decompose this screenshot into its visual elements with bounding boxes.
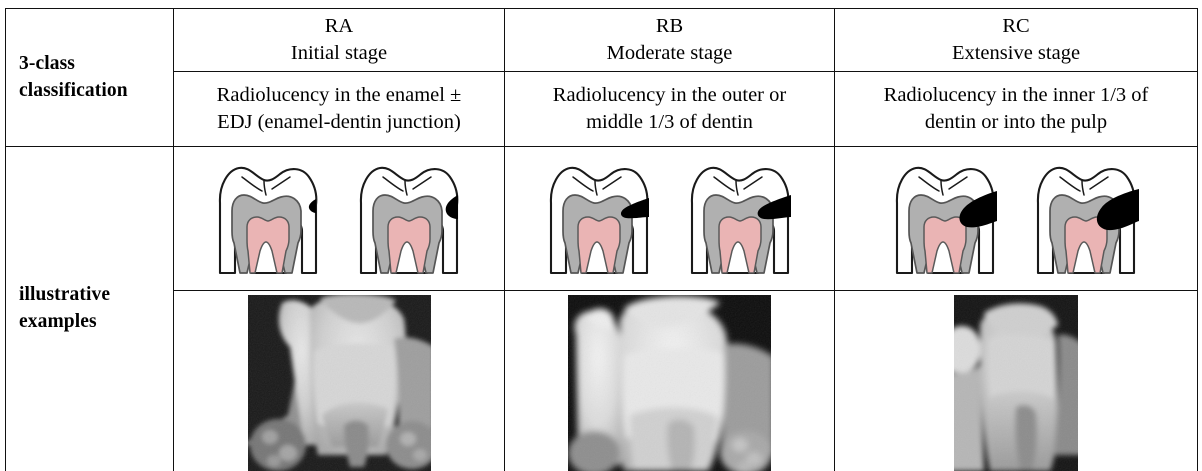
examples-label-line2: examples — [19, 311, 97, 332]
column-stage-ra: Initial stage — [180, 40, 498, 67]
description-rc-line2: dentin or into the pulp — [843, 109, 1189, 136]
description-ra-line1: Radiolucency in the enamel ± — [182, 82, 496, 109]
row-label-classification: 3-class classification — [6, 9, 174, 147]
header-cell-rb: RB Moderate stage — [505, 9, 835, 72]
tooth-diagram-icon-ra-1 — [206, 155, 331, 283]
description-rb-line2: middle 1/3 of dentin — [513, 109, 826, 136]
tooth-diagram-pair-rb — [505, 147, 834, 290]
row-label-illustrative-examples: illustrative examples — [6, 147, 174, 471]
tooth-diagram-icon-rc-2 — [1024, 155, 1149, 283]
diagram-cell-rb — [505, 147, 835, 291]
radiograph-cell-ra — [174, 291, 505, 471]
description-rc-line1: Radiolucency in the inner 1/3 of — [843, 82, 1189, 109]
diagram-cell-rc — [835, 147, 1198, 291]
table-row-header-codes: 3-class classification RA Initial stage … — [6, 9, 1198, 72]
radiograph-cell-rb — [505, 291, 835, 471]
description-ra-line2: EDJ (enamel-dentin junction) — [182, 109, 496, 136]
header-cell-rc: RC Extensive stage — [835, 9, 1198, 72]
radiograph-image-rb — [568, 295, 771, 471]
description-rb-line1: Radiolucency in the outer or — [513, 82, 826, 109]
tooth-diagram-pair-ra — [174, 147, 504, 290]
tooth-diagram-pair-rc — [835, 147, 1197, 290]
tooth-diagram-icon-rb-1 — [537, 155, 662, 283]
diagram-cell-ra — [174, 147, 505, 291]
column-stage-rc: Extensive stage — [841, 40, 1191, 67]
figure-root: 3-class classification RA Initial stage … — [0, 0, 1202, 471]
classification-label-line1: 3-class — [19, 53, 75, 74]
column-code-rc: RC — [841, 13, 1191, 40]
tooth-diagram-icon-rb-2 — [678, 155, 803, 283]
column-stage-rb: Moderate stage — [511, 40, 828, 67]
description-cell-ra: Radiolucency in the enamel ± EDJ (enamel… — [174, 72, 505, 147]
tooth-diagram-icon-ra-2 — [347, 155, 472, 283]
radiograph-image-rc — [954, 295, 1078, 471]
caries-classification-table: 3-class classification RA Initial stage … — [5, 8, 1198, 471]
header-cell-ra: RA Initial stage — [174, 9, 505, 72]
radiograph-cell-rc — [835, 291, 1198, 471]
column-code-ra: RA — [180, 13, 498, 40]
table-row-descriptions: Radiolucency in the enamel ± EDJ (enamel… — [6, 72, 1198, 147]
radiograph-wrap-ra — [174, 291, 504, 471]
radiograph-wrap-rc — [835, 291, 1197, 471]
radiograph-image-ra — [248, 295, 431, 471]
table-row-radiographs — [6, 291, 1198, 471]
table-row-diagrams: illustrative examples — [6, 147, 1198, 291]
description-cell-rc: Radiolucency in the inner 1/3 of dentin … — [835, 72, 1198, 147]
tooth-diagram-icon-rc-1 — [883, 155, 1008, 283]
radiograph-wrap-rb — [505, 291, 834, 471]
description-cell-rb: Radiolucency in the outer or middle 1/3 … — [505, 72, 835, 147]
classification-label-line2: classification — [19, 80, 128, 101]
examples-label-line1: illustrative — [19, 284, 110, 305]
column-code-rb: RB — [511, 13, 828, 40]
